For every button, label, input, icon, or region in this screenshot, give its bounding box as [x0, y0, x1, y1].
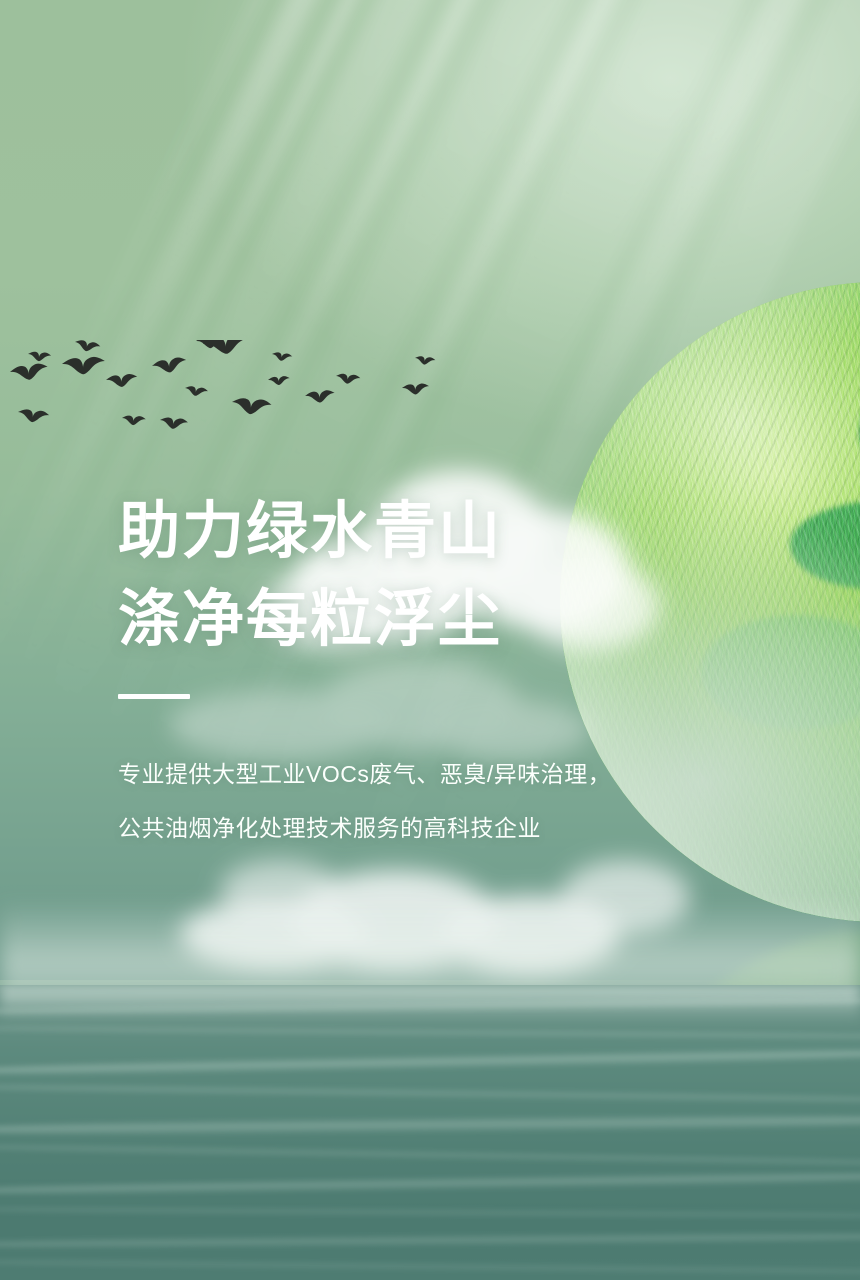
water-ripple	[0, 1258, 860, 1276]
headline-line-1: 助力绿水青山	[118, 488, 718, 576]
headline-divider	[118, 694, 190, 699]
water-ripple	[0, 1045, 860, 1078]
water-ripple	[0, 1142, 860, 1167]
water-ripple	[0, 1231, 860, 1251]
water-ripple	[0, 1206, 860, 1220]
subtitle-line-2: 公共油烟净化处理技术服务的高科技企业	[118, 803, 718, 853]
water-surface	[0, 985, 860, 1280]
headline-line-2: 涤净每粒浮尘	[118, 576, 718, 664]
water-ripple	[0, 1112, 860, 1138]
water-ripple	[0, 1082, 860, 1105]
water-ripple	[0, 1025, 860, 1041]
poster-canvas: 助力绿水青山 涤净每粒浮尘 专业提供大型工业VOCs废气、恶臭/异味治理， 公共…	[0, 0, 860, 1280]
headline-block: 助力绿水青山 涤净每粒浮尘 专业提供大型工业VOCs废气、恶臭/异味治理， 公共…	[118, 488, 718, 853]
subtitle-line-1: 专业提供大型工业VOCs废气、恶臭/异味治理，	[118, 749, 718, 799]
water-ripple	[0, 1169, 860, 1198]
